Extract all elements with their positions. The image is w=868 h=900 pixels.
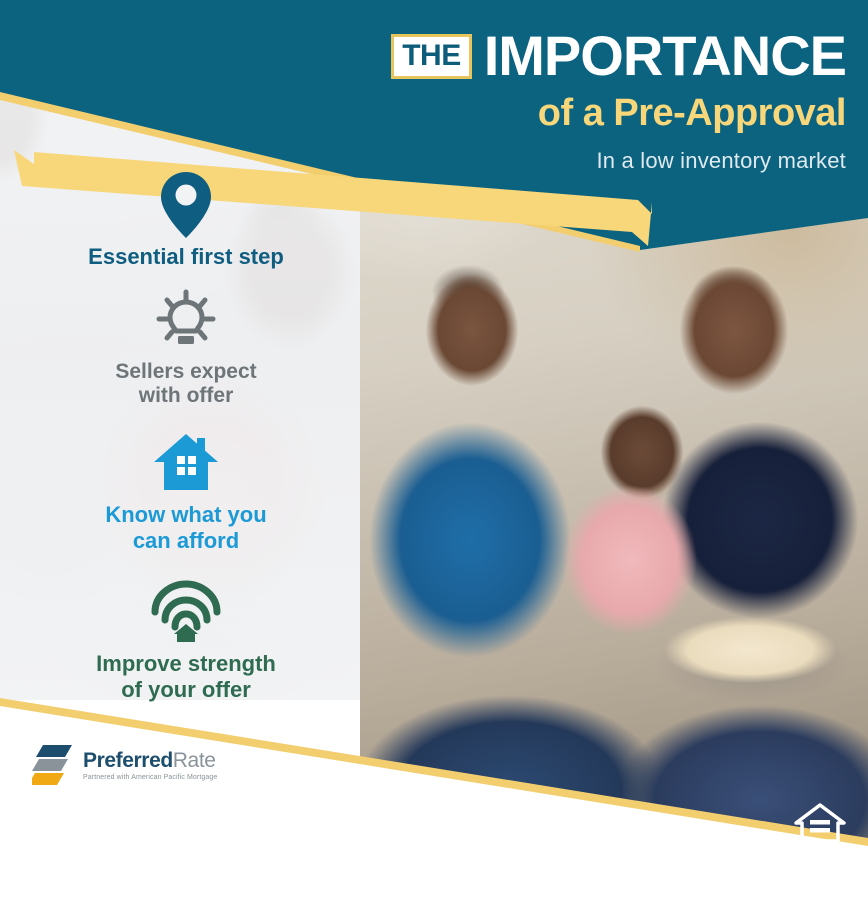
header-title-block: THE IMPORTANCE of a Pre-Approval In a lo… [246,28,846,174]
title-eyebrow-badge: THE [391,34,472,79]
house-icon [0,426,372,500]
logo-tagline: Partnered with American Pacific Mortgage [83,774,217,781]
pre-approval-infographic: THE IMPORTANCE of a Pre-Approval In a lo… [0,0,868,900]
title-main-row: THE IMPORTANCE [246,28,846,84]
benefit-item-improve-strength-of-your-offer: Improve strength of your offer [0,575,372,702]
benefit-label: Sellers expect with offer [0,360,372,409]
equal-housing-label: EQUAL HOUSING OPPORTUNITY [788,849,852,862]
logo-name: PreferredRate [83,750,217,771]
benefit-item-sellers-expect-with-offer: Sellers expect with offer [0,284,372,409]
preferred-rate-logo: PreferredRate Partnered with American Pa… [32,742,217,788]
logo-name-light: Rate [173,749,216,772]
logo-mark-icon [32,742,76,788]
equal-housing-opportunity-logo: EQUAL HOUSING OPPORTUNITY [788,803,852,862]
benefits-list: Essential first step [0,168,372,708]
benefit-label: Improve strength of your offer [0,651,372,702]
benefit-item-essential-first-step: Essential first step [0,168,372,270]
lightbulb-icon [0,284,372,358]
wifi-house-signal-icon [0,575,372,649]
equal-housing-house-icon [794,803,846,843]
page-subtitle: of a Pre-Approval [246,92,846,136]
page-title: IMPORTANCE [484,28,846,84]
logo-wordmark: PreferredRate Partnered with American Pa… [83,750,217,781]
benefit-item-know-what-you-can-afford: Know what you can afford [0,426,372,553]
location-pin-icon [0,168,372,242]
benefit-label: Essential first step [0,244,372,270]
benefit-label: Know what you can afford [0,502,372,553]
logo-name-bold: Preferred [83,749,173,772]
